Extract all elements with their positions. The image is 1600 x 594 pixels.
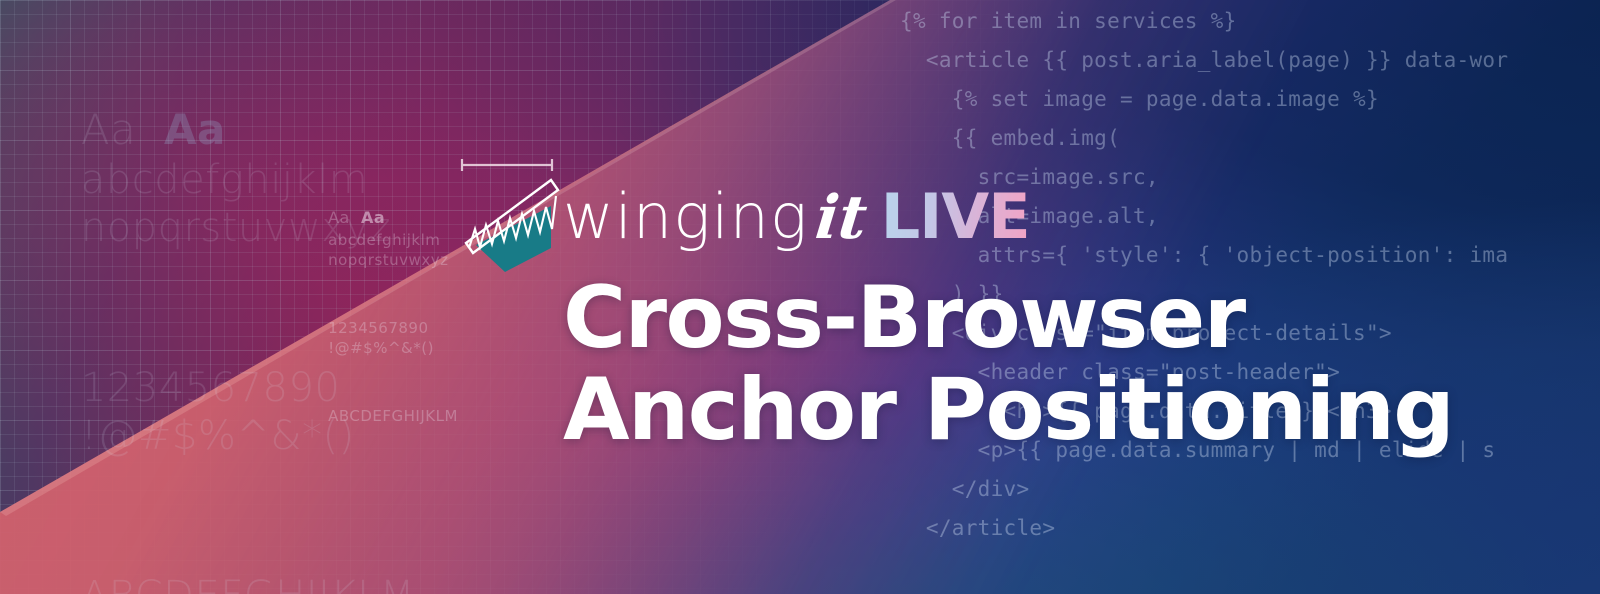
code-line: {{ embed.img( — [900, 119, 1600, 158]
specimen-small-aa-bold: Aa — [361, 208, 385, 227]
brand-wordmark: winging it LIVE — [563, 186, 1030, 248]
page-title: Cross-Browser Anchor Positioning — [563, 272, 1453, 456]
wordmark-winging: winging — [563, 186, 808, 248]
specimen-numerals: 1234567890 — [81, 365, 341, 411]
measurement-line-icon — [462, 159, 552, 171]
type-specimen-small: Aa Aa abcdefghijklm nopqrstuvwxyz 123456… — [307, 186, 458, 446]
wordmark-live-badge: LIVE — [881, 186, 1030, 248]
specimen-small-uppercase-1: ABCDEFGHIJKLM — [328, 407, 458, 425]
code-line: {% for item in services %} — [900, 2, 1600, 41]
specimen-uppercase-1: ABCDEFGHIJKLM — [81, 573, 415, 594]
event-title-banner: Aa Aa abcdefghijklm nopqrstuvwxyz 123456… — [0, 0, 1600, 594]
winging-it-wing-mark — [448, 152, 568, 302]
title-line-2: Anchor Positioning — [563, 364, 1453, 456]
specimen-aa-light: Aa — [81, 105, 136, 154]
specimen-small-numerals: 1234567890 — [328, 319, 428, 337]
specimen-small-lowercase-1: abcdefghijklm — [328, 231, 440, 249]
code-line: <article {{ post.aria_label(page) }} dat… — [900, 41, 1600, 80]
title-line-1: Cross-Browser — [563, 272, 1453, 364]
code-line: {% set image = page.data.image %} — [900, 80, 1600, 119]
specimen-aa-bold: Aa — [164, 105, 226, 154]
wing-teal-band — [476, 206, 551, 272]
wordmark-it: it — [813, 188, 870, 248]
specimen-small-aa-light: Aa — [328, 208, 350, 227]
specimen-small-symbols: !@#$%^&*() — [328, 339, 434, 357]
specimen-small-lowercase-2: nopqrstuvwxyz — [328, 251, 448, 269]
code-line: </div> — [900, 470, 1600, 509]
code-line: </article> — [900, 509, 1600, 548]
wing-mark-svg — [448, 152, 568, 302]
